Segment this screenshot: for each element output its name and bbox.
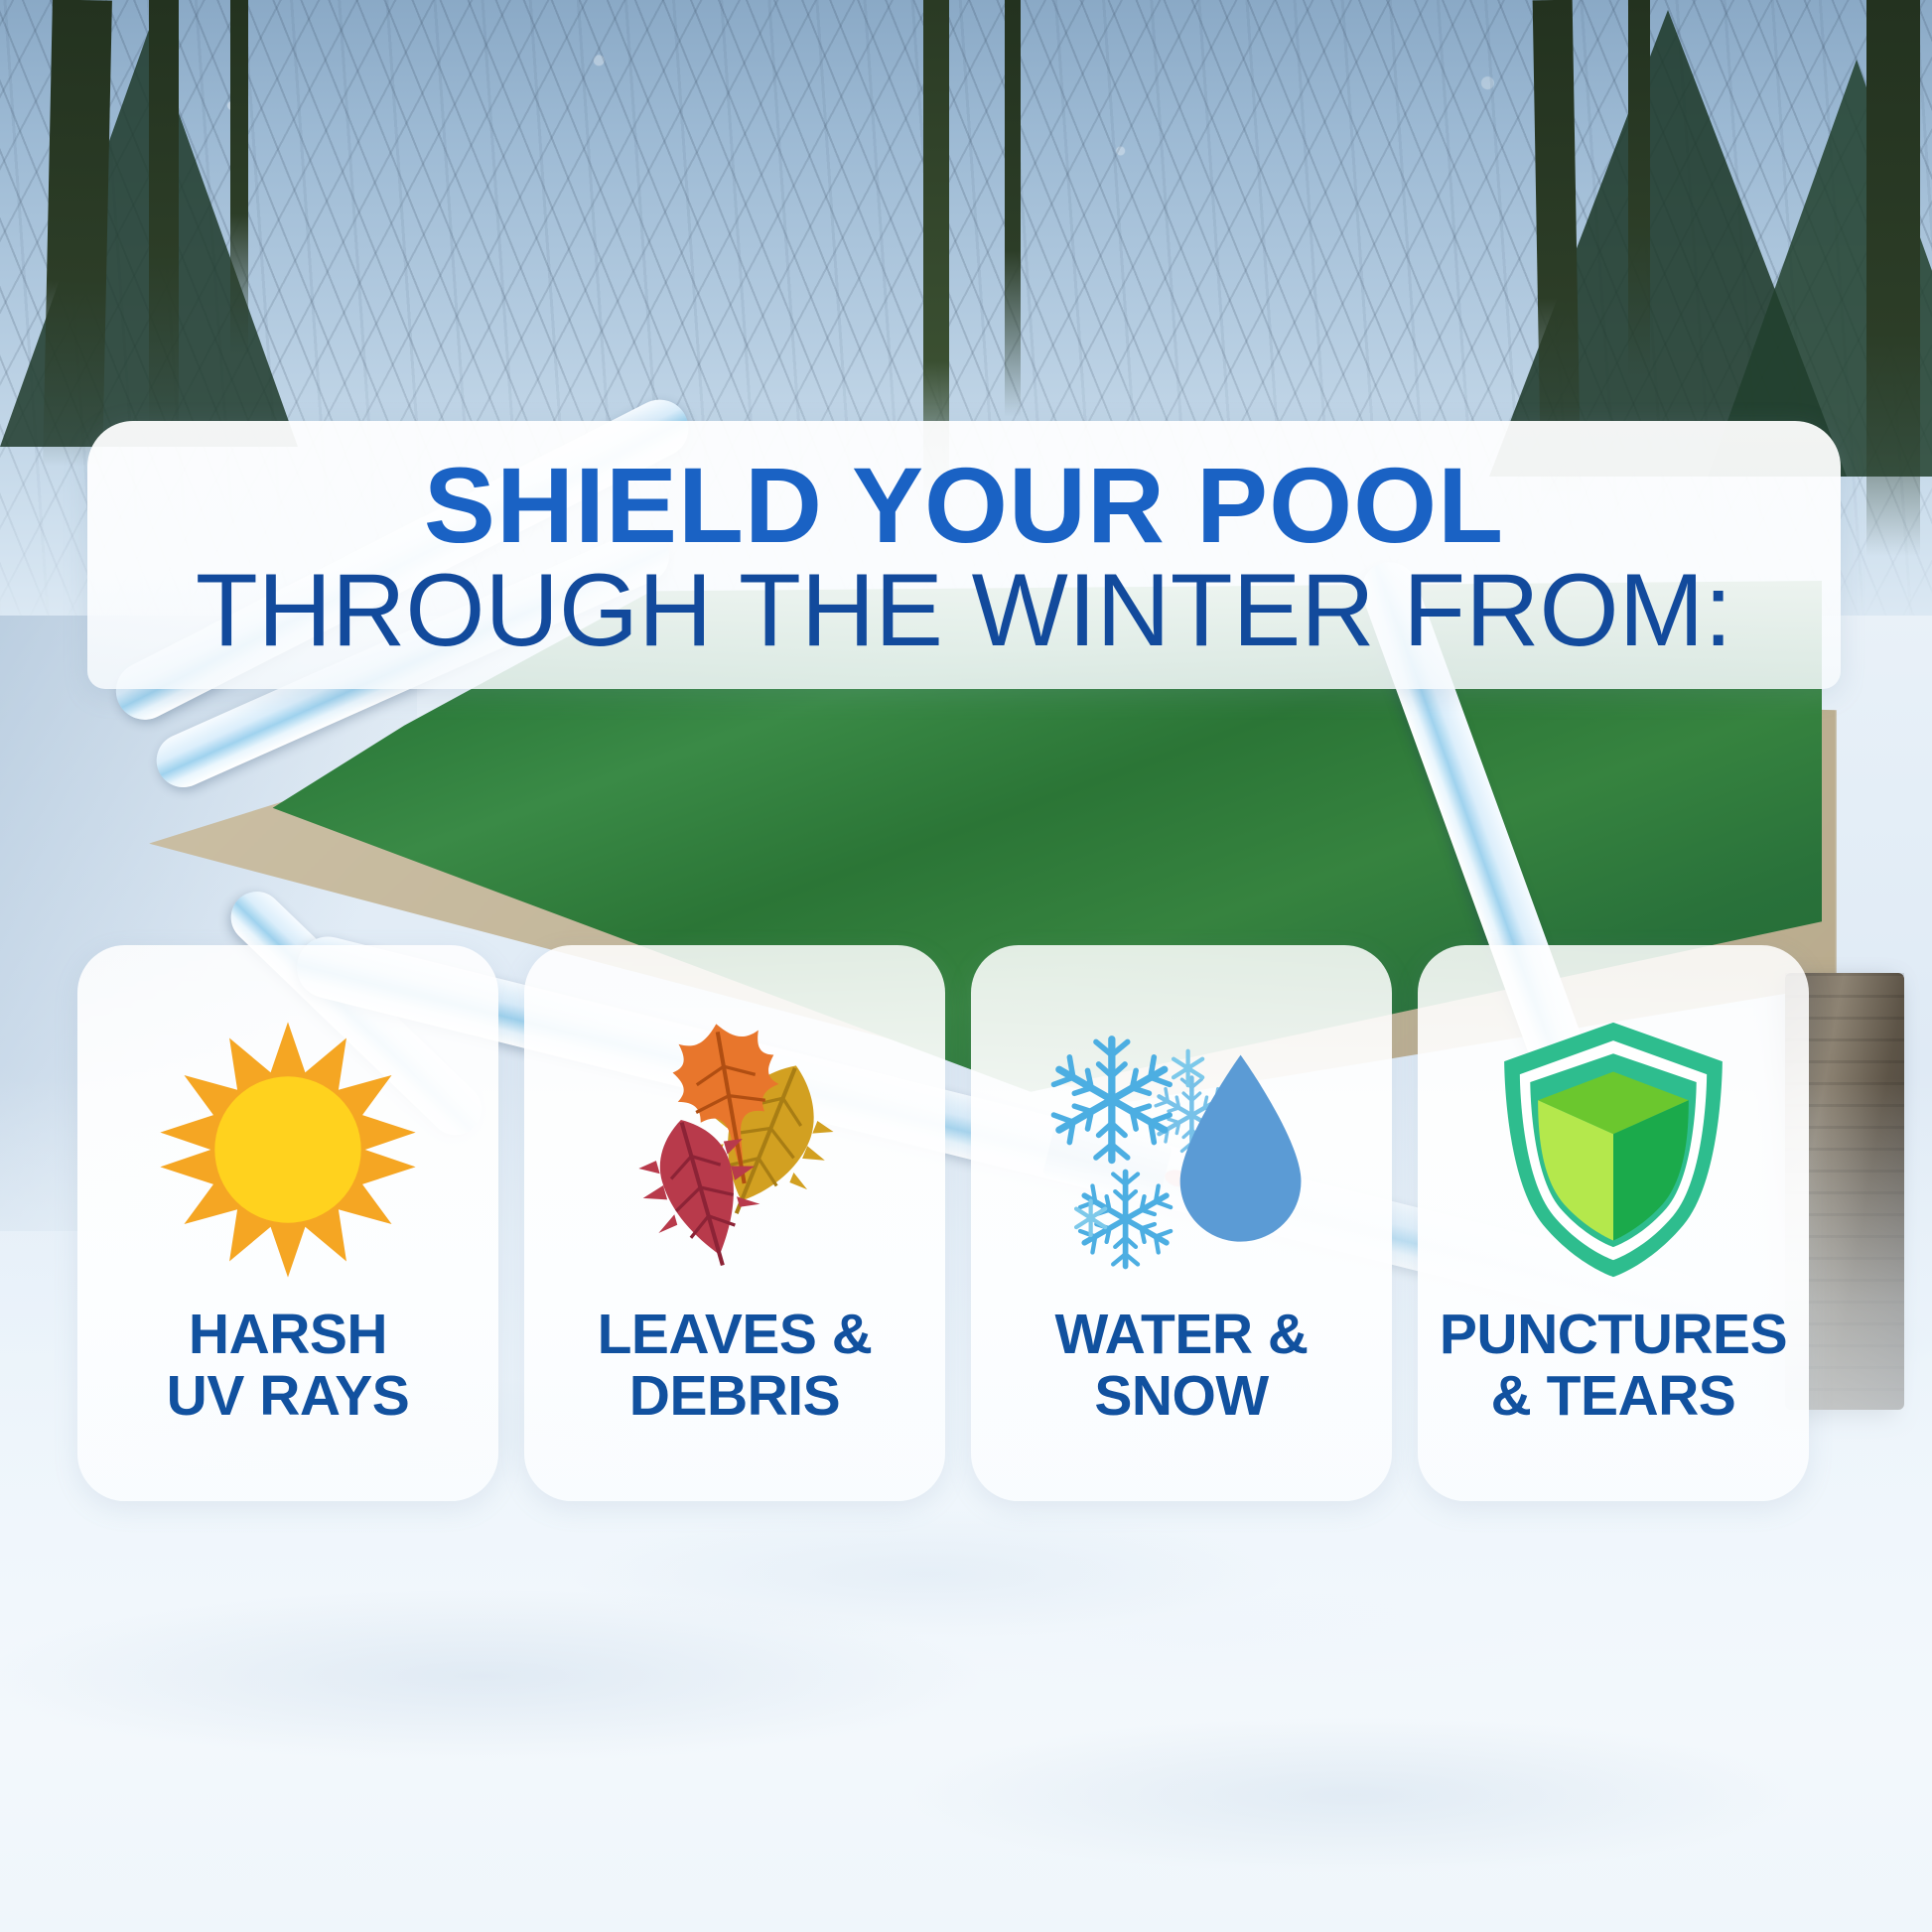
feature-card-leaves-debris[interactable]: LEAVES & DEBRIS [524,945,945,1501]
feature-card-label-line-1: WATER & [1054,1305,1308,1366]
feature-card-label: LEAVES & DEBRIS [598,1305,873,1427]
sun-icon [77,1001,498,1299]
tree-trunk [43,0,112,468]
feature-card-label-line-2: & TEARS [1440,1366,1787,1428]
feature-card-water-snow[interactable]: WATER & SNOW [971,945,1392,1501]
shield-cube-icon [1418,1001,1809,1299]
promotional-banner: SHIELD YOUR POOL THROUGH THE WINTER FROM… [0,0,1932,1932]
snowflakes-waterdrop-icon [971,1001,1392,1299]
tree-trunk [1005,0,1021,417]
headline-line-1: SHIELD YOUR POOL [424,451,1504,560]
feature-card-label-line-2: UV RAYS [167,1366,410,1428]
feature-card-label-line-2: DEBRIS [598,1366,873,1428]
tree-trunk [149,0,179,427]
feature-card-harsh-uv-rays[interactable]: HARSH UV RAYS [77,945,498,1501]
feature-card-label-line-1: PUNCTURES [1440,1305,1787,1366]
autumn-leaves-icon [524,1001,945,1299]
feature-card-row: HARSH UV RAYS [77,945,1864,1521]
tree-trunk [1628,0,1650,377]
tree-trunk [230,0,248,357]
tree-trunk [1866,0,1920,556]
feature-card-label-line-2: SNOW [1054,1366,1308,1428]
headline-line-2: THROUGH THE WINTER FROM: [196,556,1732,665]
feature-card-label: WATER & SNOW [1054,1305,1308,1427]
feature-card-label-line-1: LEAVES & [598,1305,873,1366]
feature-card-punctures-tears[interactable]: PUNCTURES & TEARS [1418,945,1809,1501]
headline-panel: SHIELD YOUR POOL THROUGH THE WINTER FROM… [87,421,1841,689]
feature-card-label-line-1: HARSH [167,1305,410,1366]
feature-card-label: PUNCTURES & TEARS [1440,1305,1787,1427]
feature-card-label: HARSH UV RAYS [167,1305,410,1427]
